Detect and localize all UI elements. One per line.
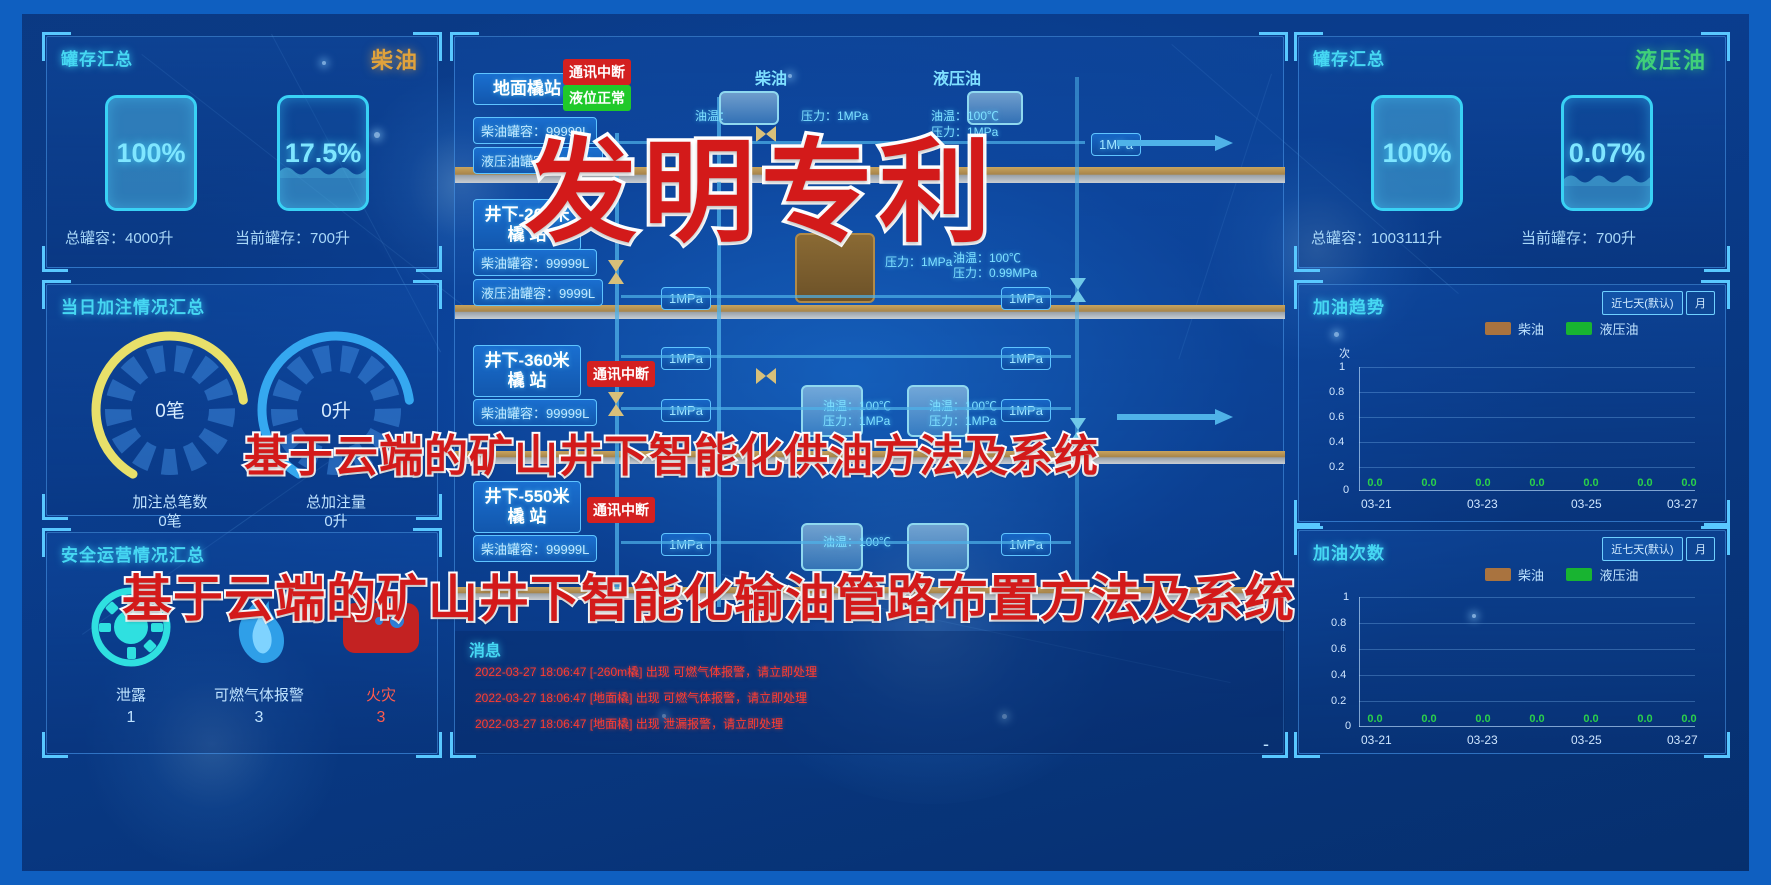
panel-title: 当日加注情况汇总 [61,293,205,318]
station-tank-hydraulic-200m: 液压油罐容：9999L [473,279,603,306]
chart-legend: 柴油 液压油 [1485,565,1656,586]
pressure-tag-6: 1MPa [661,399,711,422]
trunk-pipe-right [1075,77,1079,607]
point-label: 0.0 [1367,713,1382,725]
y-tick: 0.4 [1329,436,1344,448]
valve-icon[interactable] [755,367,777,385]
point-label: 0.0 [1367,477,1382,489]
oil-type-badge-hydraulic: 液压油 [1635,43,1707,75]
tank-gauge-current-stock[interactable]: 0.07% [1561,95,1653,211]
x-tick: 03-25 [1571,733,1602,747]
valve-icon[interactable] [1069,277,1087,303]
left-tank-summary-panel: 罐存汇总 柴油 100% 总罐容：4000升 17.5% 当前罐存：700升 [46,36,438,268]
message-log-title: 消息 [469,637,501,661]
safety-item-name: 泄露 [75,684,187,705]
strata-band-200m [455,305,1285,319]
safety-item-name: 可燃气体报警 [195,684,323,705]
tank-gauge-total-capacity[interactable]: 100% [105,95,197,211]
message-line: 2022-03-27 18:06:47 [地面橇] 出现 泄漏报警，请立即处理 [475,715,817,732]
tank-percent-label: 0.07% [1564,98,1650,208]
chart-plot-area: 0.0 0.0 0.0 0.0 0.0 0.0 0.0 [1359,597,1695,727]
point-label: 0.0 [1475,477,1490,489]
station-label-360m[interactable]: 井下-360米 橇 站 [473,345,581,397]
message-line: 2022-03-27 18:06:47 [地面橇] 出现 可燃气体报警，请立即处… [475,689,817,706]
tank-gauge-total-capacity[interactable]: 100% [1371,95,1463,211]
station-tank-diesel-550m: 柴油罐容：99999L [473,535,597,562]
point-label: 0.0 [1529,713,1544,725]
pressure-tag-2: 1MPa [661,287,711,310]
point-label: 0.0 [1583,477,1598,489]
legend-swatch [1485,568,1511,581]
tank-percent-label: 100% [1374,98,1460,208]
point-label: 0.0 [1681,713,1696,725]
legend-swatch [1485,322,1511,335]
y-tick: 0.8 [1329,386,1344,398]
dashboard-screen: 罐存汇总 柴油 100% 总罐容：4000升 17.5% 当前罐存：700升 当… [22,14,1749,871]
legend-label: 液压油 [1599,319,1638,338]
x-tick: 03-21 [1361,497,1392,511]
chart-legend: 柴油 液压油 [1485,319,1656,340]
chart-range-buttons: 近七天(默认) 月 [1602,537,1715,561]
y-tick: 0 [1343,484,1349,496]
flow-arrow-icon [1115,407,1235,427]
pipe-200m-h [621,295,1071,298]
legend-item-hydraulic[interactable]: 液压油 [1566,565,1638,584]
watermark-patent-line-1: 基于云端的矿山井下智能化供油方法及系统 [244,420,1099,484]
refuel-trend-chart-panel: 加油趋势 近七天(默认) 月 柴油 液压油 次 0.0 [1298,284,1726,522]
x-tick: 03-27 [1667,497,1698,511]
gauge-label-line2: 0笔 [85,512,255,531]
legend-item-diesel[interactable]: 柴油 [1485,565,1544,584]
gauge-ring-icon: 0笔 [85,325,255,495]
tank-current-caption: 当前罐存：700升 [235,227,350,248]
legend-label: 柴油 [1518,565,1544,584]
legend-item-hydraulic[interactable]: 液压油 [1566,319,1638,338]
y-tick: 0.2 [1329,461,1344,473]
pressure-tag-4: 1MPa [661,347,711,370]
valve-icon[interactable] [607,391,625,417]
gauge-refuel-count-label: 加注总笔数 0笔 [85,493,255,531]
flow-title-diesel: 柴油 [755,65,787,89]
gauge-label-line1: 总加注量 [251,493,421,512]
x-tick: 03-25 [1571,497,1602,511]
station-badge-comm-550m: 通讯中断 [587,497,655,523]
x-tick: 03-23 [1467,733,1498,747]
y-tick: 0.6 [1329,411,1344,423]
message-line: 2022-03-27 18:06:47 [-260m橇] 出现 可燃气体报警，请… [475,663,817,680]
point-label: 0.0 [1681,477,1696,489]
message-list: 2022-03-27 18:06:47 [-260m橇] 出现 可燃气体报警，请… [475,663,817,741]
flow-title-hydraulic: 液压油 [933,65,981,89]
legend-label: 柴油 [1518,319,1544,338]
safety-item-value: 1 [75,709,187,727]
y-tick: 0.4 [1331,669,1346,681]
sensor-line: 压力：0.99MPa [953,266,1037,281]
pressure-tag-8: 1MPa [661,533,711,556]
minimize-button[interactable]: - [1263,739,1269,749]
point-label: 0.0 [1529,477,1544,489]
range-button-month[interactable]: 月 [1686,537,1715,561]
safety-item-name: 火灾 [333,684,429,705]
point-label: 0.0 [1637,713,1652,725]
pressure-tag-7: 1MPa [1001,399,1051,422]
pressure-tag-3: 1MPa [1001,287,1051,310]
chart-y-axis-label: 次 [1339,345,1350,361]
station-badge-comm-surface: 通讯中断 [563,59,631,85]
flow-arrow-icon [1115,133,1235,153]
range-button-month[interactable]: 月 [1686,291,1715,315]
tank-percent-label: 100% [108,98,194,208]
legend-swatch [1566,568,1592,581]
chart-title: 加油次数 [1313,539,1385,564]
right-tank-summary-panel: 罐存汇总 液压油 100% 总罐容：1003111升 0.07% 当前罐存：70… [1298,36,1726,268]
tank-current-caption: 当前罐存：700升 [1521,227,1636,248]
chart-plot-area: 0.0 0.0 0.0 0.0 0.0 0.0 0.0 [1359,367,1695,491]
y-tick: 0 [1345,720,1351,732]
point-label: 0.0 [1421,477,1436,489]
pressure-tag-9: 1MPa [1001,533,1051,556]
range-button-seven-days[interactable]: 近七天(默认) [1602,537,1682,561]
chart-title: 加油趋势 [1313,293,1385,318]
point-label: 0.0 [1637,477,1652,489]
x-tick: 03-23 [1467,497,1498,511]
y-tick: 1 [1339,361,1345,373]
pipe-200m-h2 [621,355,1071,358]
tank-total-caption: 总罐容：1003111升 [1311,227,1442,248]
range-button-seven-days[interactable]: 近七天(默认) [1602,291,1682,315]
pipe-550m-h [621,541,1071,544]
safety-item-value: 3 [333,709,429,727]
point-label: 0.0 [1475,713,1490,725]
oil-type-badge-diesel: 柴油 [371,43,419,75]
legend-swatch [1566,322,1592,335]
tank-gauge-current-stock[interactable]: 17.5% [277,95,369,211]
y-tick: 0.2 [1331,695,1346,707]
station-badge-comm-360m: 通讯中断 [587,361,655,387]
svg-text:0升: 0升 [321,400,351,422]
y-tick: 0.6 [1331,643,1346,655]
panel-title: 罐存汇总 [1313,45,1385,70]
tank-total-caption: 总罐容：4000升 [65,227,173,248]
watermark-title: 发明专利 [525,102,997,264]
gauge-refuel-count[interactable]: 0笔 [85,325,255,495]
legend-label: 液压油 [1599,565,1638,584]
safety-item-value: 3 [195,709,323,727]
outer-bezel: 罐存汇总 柴油 100% 总罐容：4000升 17.5% 当前罐存：700升 当… [0,0,1771,885]
pressure-tag-5: 1MPa [1001,347,1051,370]
gauge-label-line2: 0升 [251,512,421,531]
tank-percent-label: 17.5% [280,98,366,208]
point-label: 0.0 [1583,713,1598,725]
x-tick: 03-21 [1361,733,1392,747]
gauge-label-line1: 加注总笔数 [85,493,255,512]
panel-title: 罐存汇总 [61,45,133,70]
pipe-360m-h [621,407,1071,410]
refuel-count-chart-panel: 加油次数 近七天(默认) 月 柴油 液压油 0.0 0.0 0 [1298,530,1726,754]
y-tick: 1 [1343,591,1349,603]
svg-text:0笔: 0笔 [155,400,185,422]
legend-item-diesel[interactable]: 柴油 [1485,319,1544,338]
y-tick: 0.8 [1331,617,1346,629]
point-label: 0.0 [1421,713,1436,725]
chart-range-buttons: 近七天(默认) 月 [1602,291,1715,315]
message-log: 消息 2022-03-27 18:06:47 [-260m橇] 出现 可燃气体报… [455,631,1285,755]
station-label-550m[interactable]: 井下-550米 橇 站 [473,481,581,533]
watermark-patent-line-2: 基于云端的矿山井下智能化输油管路布置方法及系统 [122,559,1295,631]
gauge-refuel-volume-label: 总加注量 0升 [251,493,421,531]
x-tick: 03-27 [1667,733,1698,747]
